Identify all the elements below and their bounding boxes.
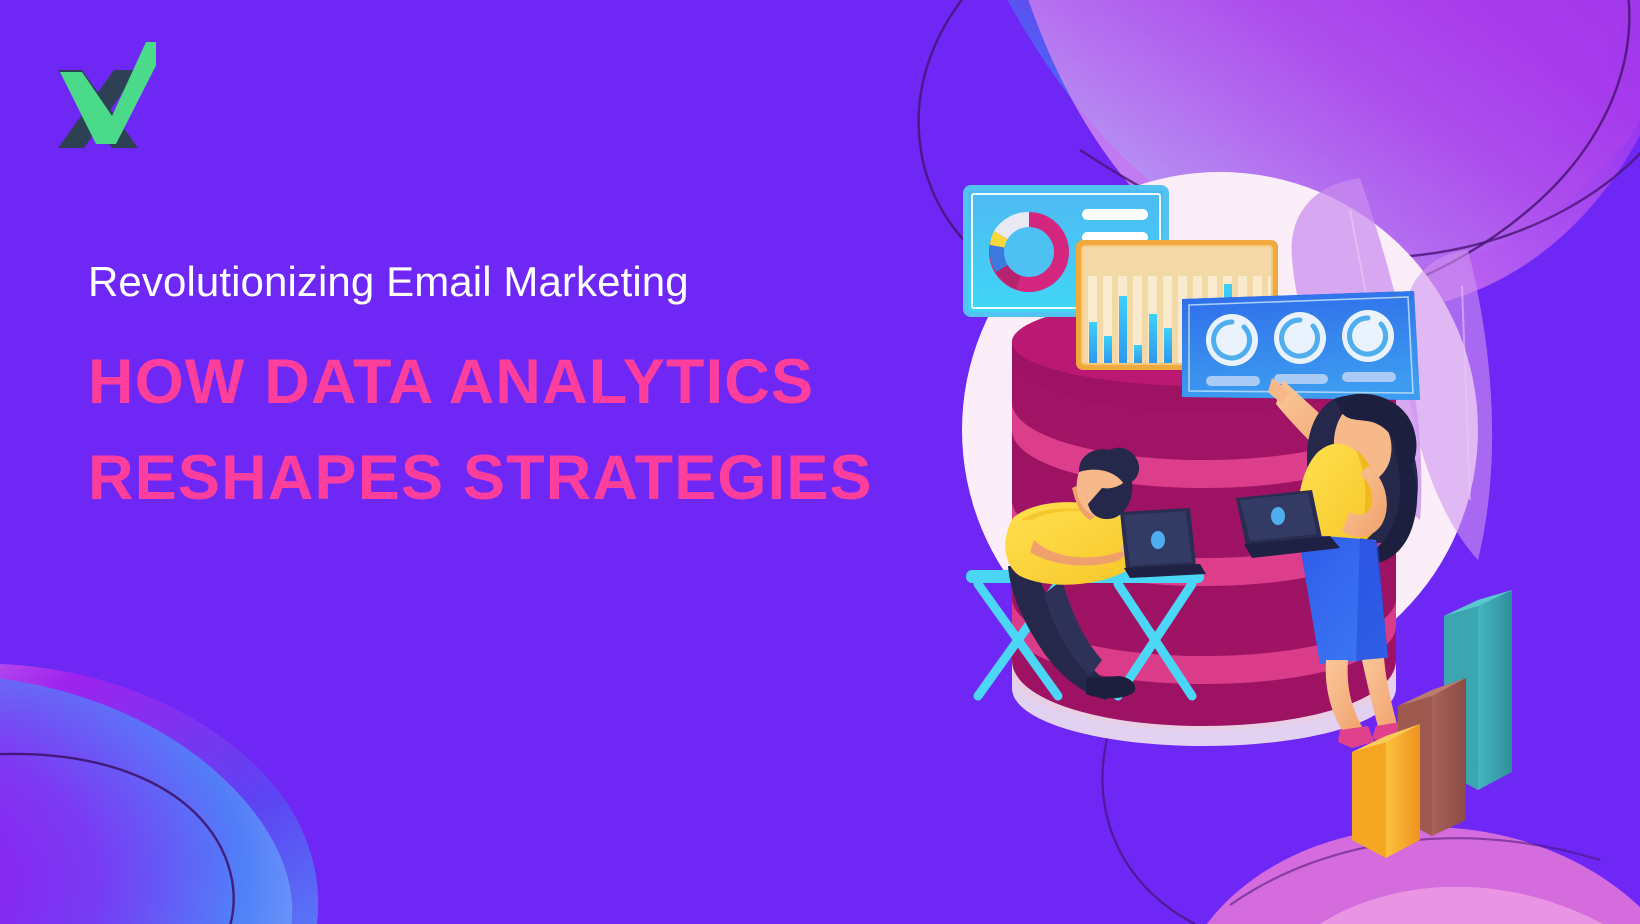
headline-line-2: RESHAPES STRATEGIES bbox=[88, 431, 948, 527]
gauge-progress-bar bbox=[1274, 374, 1328, 384]
gauge-ring bbox=[1342, 310, 1394, 362]
eyebrow-text: Revolutionizing Email Marketing bbox=[88, 258, 948, 305]
gauge-progress-bar bbox=[1342, 372, 1396, 382]
headline-line-1: HOW DATA ANALYTICS bbox=[88, 335, 948, 431]
poster-canvas: Revolutionizing Email Marketing HOW DATA… bbox=[0, 0, 1640, 924]
page-title: HOW DATA ANALYTICS RESHAPES STRATEGIES bbox=[88, 335, 948, 527]
gauge-panel bbox=[1182, 291, 1420, 400]
gauge-progress-bar bbox=[1206, 376, 1260, 386]
panel-text-line bbox=[1082, 209, 1148, 220]
gauge-ring bbox=[1274, 312, 1326, 364]
gauge-ring bbox=[1206, 314, 1258, 366]
headline-block: Revolutionizing Email Marketing HOW DATA… bbox=[88, 258, 948, 527]
brand-logo[interactable] bbox=[46, 38, 156, 150]
x-checkmark-logo bbox=[46, 38, 156, 150]
